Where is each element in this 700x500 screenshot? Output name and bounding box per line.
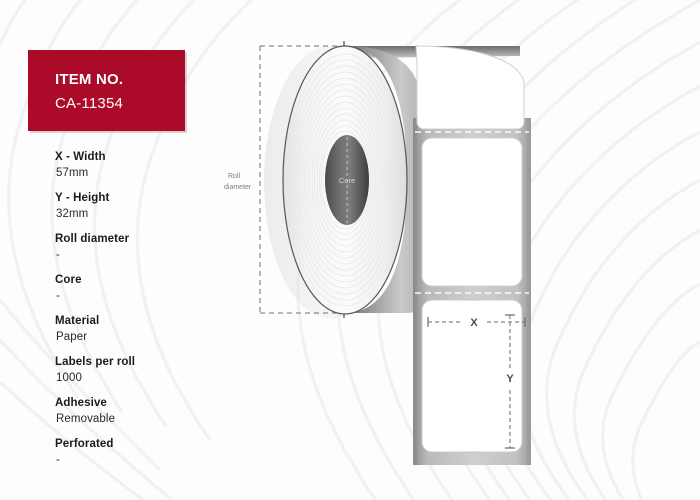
label-top: [416, 46, 524, 129]
spec-row-material: Material Paper: [55, 314, 235, 345]
spec-label: X - Width: [55, 150, 235, 165]
spec-label: Material: [55, 314, 235, 329]
roll-face: Core: [283, 46, 407, 314]
label-middle: [422, 138, 522, 286]
spec-row-labels-per-roll: Labels per roll 1000: [55, 355, 235, 386]
spec-label: Y - Height: [55, 191, 235, 206]
product-spec-sheet: ITEM NO. CA-11354 X - Width 57mm Y - Hei…: [0, 0, 700, 500]
spec-label: Roll diameter: [55, 232, 235, 247]
spec-label: Labels per roll: [55, 355, 235, 370]
spec-row-adhesive: Adhesive Removable: [55, 396, 235, 427]
spec-row-core: Core -: [55, 273, 235, 304]
spec-value: Paper: [55, 329, 235, 345]
item-number-code: CA-11354: [55, 93, 123, 115]
spec-row-roll-diameter: Roll diameter -: [55, 232, 235, 263]
spec-label: Core: [55, 273, 235, 288]
item-number-badge: ITEM NO. CA-11354: [28, 50, 185, 131]
backing-strip-edge-left: [413, 118, 417, 465]
spec-value: -: [55, 247, 235, 263]
x-dimension-label: X: [470, 317, 478, 329]
spec-row-perforated: Perforated -: [55, 437, 235, 468]
spec-label: Adhesive: [55, 396, 235, 411]
specification-list: X - Width 57mm Y - Height 32mm Roll diam…: [55, 150, 235, 478]
spec-value: Removable: [55, 411, 235, 427]
spec-value: 57mm: [55, 165, 235, 181]
spec-value: -: [55, 452, 235, 468]
backing-strip-edge-right: [527, 118, 531, 465]
spec-value: -: [55, 288, 235, 304]
spec-label: Perforated: [55, 437, 235, 452]
spec-row-y-height: Y - Height 32mm: [55, 191, 235, 222]
y-dimension-label: Y: [506, 373, 514, 385]
spec-row-x-width: X - Width 57mm: [55, 150, 235, 181]
item-number-title: ITEM NO.: [55, 70, 123, 90]
spec-value: 1000: [55, 370, 235, 386]
spec-value: 32mm: [55, 206, 235, 222]
core-label: Core: [339, 176, 355, 185]
